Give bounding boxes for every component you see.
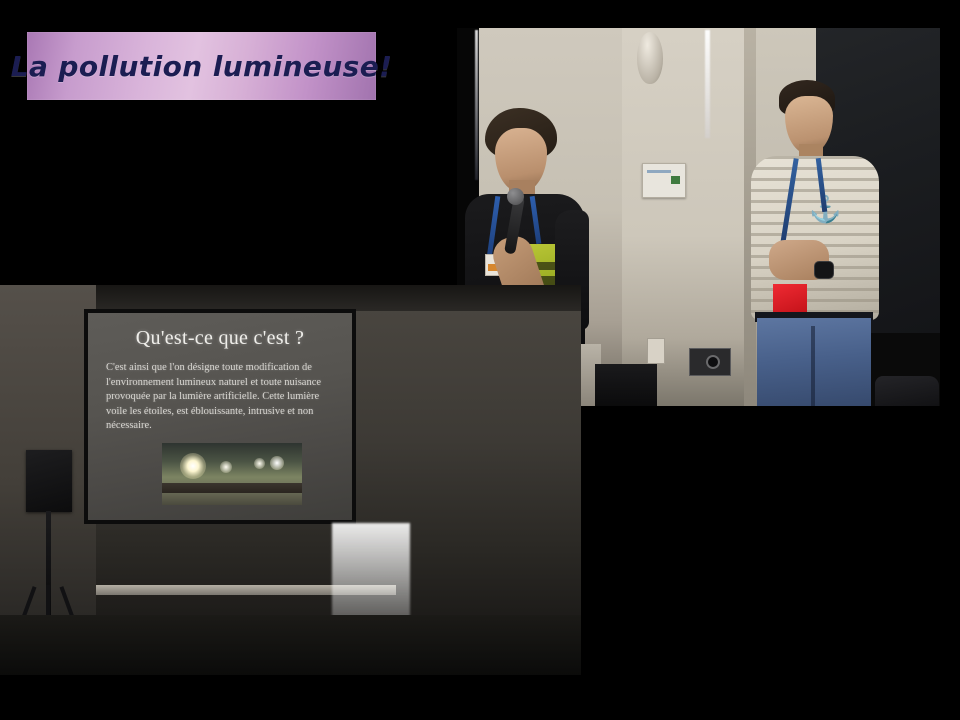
- slide-title-banner: La pollution lumineuse!: [27, 32, 376, 100]
- page-title: La pollution lumineuse!: [11, 50, 393, 83]
- floor: [0, 615, 581, 675]
- thermostat-icon: [642, 163, 686, 198]
- projected-night-photo: [162, 443, 302, 505]
- light-streak-secondary: [705, 30, 710, 138]
- ceiling-lamp-icon: [637, 32, 663, 84]
- wristwatch-icon: [815, 262, 833, 278]
- wall-outlet-icon: [647, 338, 665, 364]
- streetlight-small-1-icon: [220, 461, 232, 473]
- projected-slide-body: C'est ainsi que l'on désigne toute modif…: [106, 361, 338, 434]
- streetlight-small-3-icon: [270, 456, 284, 470]
- streetlight-small-2-icon: [254, 458, 265, 469]
- light-streak: [475, 30, 478, 180]
- wall-jack-plate-icon: [689, 348, 731, 376]
- floor-bag: [875, 376, 939, 406]
- man-striped-sweater: [751, 156, 879, 320]
- pa-speaker: [26, 450, 72, 512]
- projection-screen-surface: Qu'est-ce que c'est ? C'est ainsi que l'…: [88, 313, 352, 520]
- equipment-case: [595, 364, 657, 406]
- night-road: [162, 483, 302, 493]
- projection-screen-photo: Qu'est-ce que c'est ? C'est ainsi que l'…: [0, 285, 581, 675]
- projected-slide-title: Qu'est-ce que c'est ?: [88, 327, 352, 350]
- streetlight-glare-icon: [180, 453, 206, 479]
- microphone-head-icon: [507, 188, 524, 205]
- presentation-slide: La pollution lumineuse!: [0, 0, 960, 720]
- man-badge-red: [773, 284, 807, 314]
- man-jeans: [757, 318, 871, 406]
